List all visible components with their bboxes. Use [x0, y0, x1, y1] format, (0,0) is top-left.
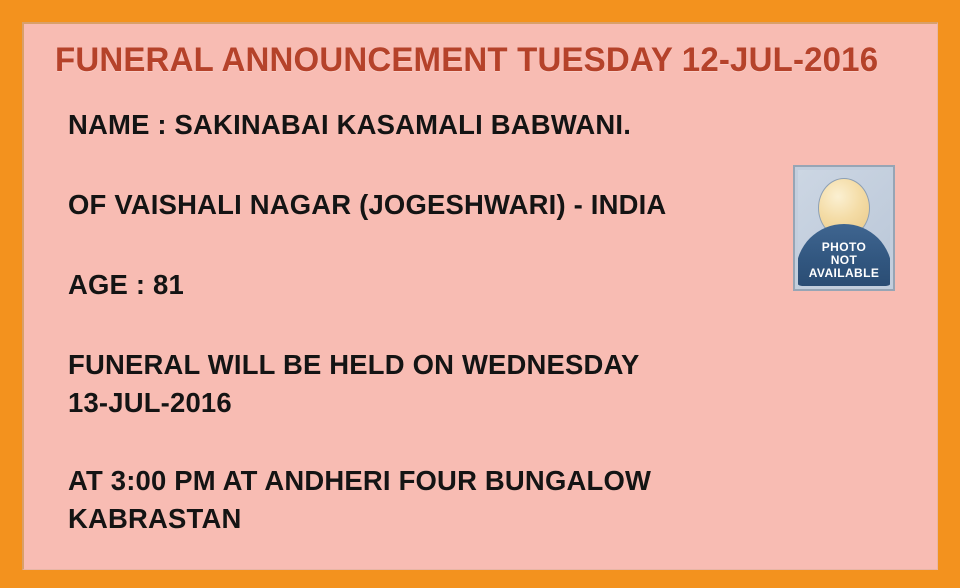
place-paragraph: OF VAISHALI NAGAR (JOGESHWARI) - INDIA — [68, 186, 768, 224]
funeral-day-line: FUNERAL WILL BE HELD ON WEDNESDAY — [68, 346, 754, 384]
funeral-date-paragraph: FUNERAL WILL BE HELD ON WEDNESDAY 13-JUL… — [68, 346, 768, 422]
photo-placeholder: PHOTO NOT AVAILABLE — [793, 165, 895, 291]
venue-second-line: KABRASTAN — [68, 500, 754, 538]
page-title: FUNERAL ANNOUNCEMENT TUESDAY 12-JUL-2016 — [55, 41, 878, 80]
name-paragraph: NAME : SAKINABAI KASAMALI BABWANI. — [68, 106, 768, 144]
announcement-card: FUNERAL ANNOUNCEMENT TUESDAY 12-JUL-2016… — [22, 22, 938, 570]
photo-not-available-caption: PHOTO NOT AVAILABLE — [798, 241, 890, 280]
caption-line-3: AVAILABLE — [798, 267, 890, 280]
deceased-name-line: NAME : SAKINABAI KASAMALI BABWANI. — [68, 106, 754, 144]
venue-paragraph: AT 3:00 PM AT ANDHERI FOUR BUNGALOW KABR… — [68, 462, 768, 538]
age-line: AGE : 81 — [68, 266, 754, 304]
age-paragraph: AGE : 81 — [68, 266, 768, 304]
announcement-body: NAME : SAKINABAI KASAMALI BABWANI. OF VA… — [68, 106, 768, 538]
funeral-announcement-poster: FUNERAL ANNOUNCEMENT TUESDAY 12-JUL-2016… — [0, 0, 960, 588]
person-silhouette-icon: PHOTO NOT AVAILABLE — [798, 170, 890, 286]
residence-line: OF VAISHALI NAGAR (JOGESHWARI) - INDIA — [68, 186, 754, 224]
funeral-date-line: 13-JUL-2016 — [68, 384, 754, 422]
time-venue-line: AT 3:00 PM AT ANDHERI FOUR BUNGALOW — [68, 462, 754, 500]
